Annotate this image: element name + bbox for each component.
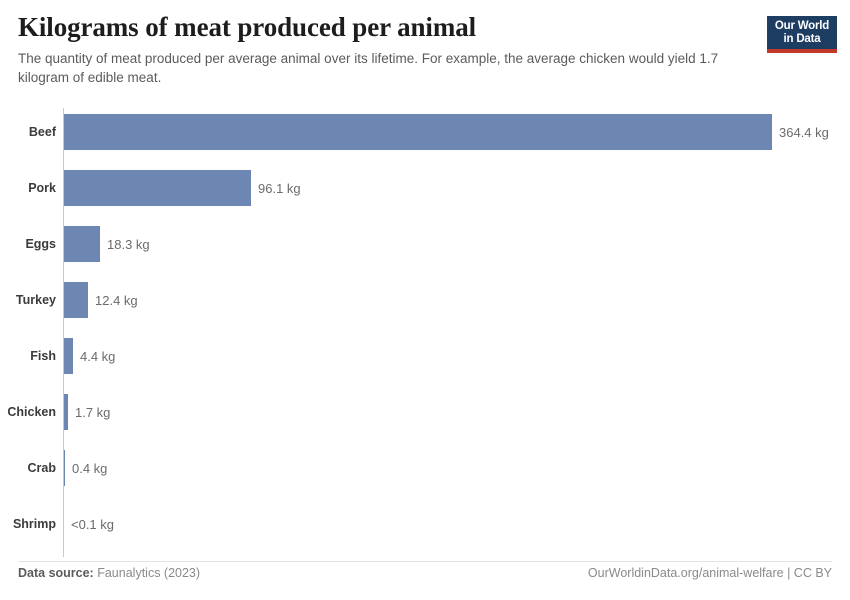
bar-value-label: 12.4 kg <box>95 293 138 308</box>
bar-row[interactable]: Beef364.4 kg <box>0 104 850 160</box>
bar-value-label: 364.4 kg <box>779 125 829 140</box>
bar-row[interactable]: Chicken1.7 kg <box>0 384 850 440</box>
bar-value-label: 4.4 kg <box>80 349 115 364</box>
bar-value-label: <0.1 kg <box>71 517 114 532</box>
bar-category-label: Pork <box>0 181 56 195</box>
chart-subtitle: The quantity of meat produced per averag… <box>18 49 730 87</box>
bar[interactable] <box>64 114 772 150</box>
bar-value-label: 18.3 kg <box>107 237 150 252</box>
bar[interactable] <box>64 450 65 486</box>
data-source-label: Data source: <box>18 566 94 580</box>
footer-divider <box>18 561 832 562</box>
bar[interactable] <box>64 394 68 430</box>
page-title: Kilograms of meat produced per animal <box>18 12 834 42</box>
bar-value-label: 0.4 kg <box>72 461 107 476</box>
bar-container: 1.7 kg <box>64 394 110 430</box>
data-source: Data source: Faunalytics (2023) <box>18 566 200 580</box>
bar-row[interactable]: Crab0.4 kg <box>0 440 850 496</box>
bar-row[interactable]: Pork96.1 kg <box>0 160 850 216</box>
chart-page: Kilograms of meat produced per animal Th… <box>0 0 850 600</box>
bar-container: 0.4 kg <box>64 450 107 486</box>
bar-value-label: 1.7 kg <box>75 405 110 420</box>
bar-category-label: Crab <box>0 461 56 475</box>
bar-category-label: Turkey <box>0 293 56 307</box>
owid-logo[interactable]: Our World in Data <box>767 16 837 53</box>
chart-header: Kilograms of meat produced per animal Th… <box>0 0 850 88</box>
bar-container: 96.1 kg <box>64 170 301 206</box>
bar-category-label: Beef <box>0 125 56 139</box>
bar-category-label: Shrimp <box>0 517 56 531</box>
bar-category-label: Fish <box>0 349 56 363</box>
bar-row[interactable]: Turkey12.4 kg <box>0 272 850 328</box>
bar-category-label: Chicken <box>0 405 56 419</box>
bar-container: <0.1 kg <box>64 506 114 542</box>
bar-container: 12.4 kg <box>64 282 138 318</box>
bar-chart: Beef364.4 kgPork96.1 kgEggs18.3 kgTurkey… <box>0 104 850 556</box>
attribution-link[interactable]: OurWorldinData.org/animal-welfare | CC B… <box>588 566 832 580</box>
owid-logo-line-2: in Data <box>784 33 821 45</box>
bar[interactable] <box>64 338 73 374</box>
bar-container: 18.3 kg <box>64 226 150 262</box>
bar-container: 4.4 kg <box>64 338 115 374</box>
bar[interactable] <box>64 226 100 262</box>
bar-category-label: Eggs <box>0 237 56 251</box>
bar-row[interactable]: Fish4.4 kg <box>0 328 850 384</box>
chart-footer: Data source: Faunalytics (2023) OurWorld… <box>0 566 850 580</box>
bar-row[interactable]: Eggs18.3 kg <box>0 216 850 272</box>
owid-logo-line-1: Our World <box>775 20 829 32</box>
bar[interactable] <box>64 170 251 206</box>
bar-rows: Beef364.4 kgPork96.1 kgEggs18.3 kgTurkey… <box>0 104 850 552</box>
bar-row[interactable]: Shrimp<0.1 kg <box>0 496 850 552</box>
data-source-value: Faunalytics (2023) <box>97 566 200 580</box>
bar[interactable] <box>64 282 88 318</box>
bar-container: 364.4 kg <box>64 114 829 150</box>
bar-value-label: 96.1 kg <box>258 181 301 196</box>
